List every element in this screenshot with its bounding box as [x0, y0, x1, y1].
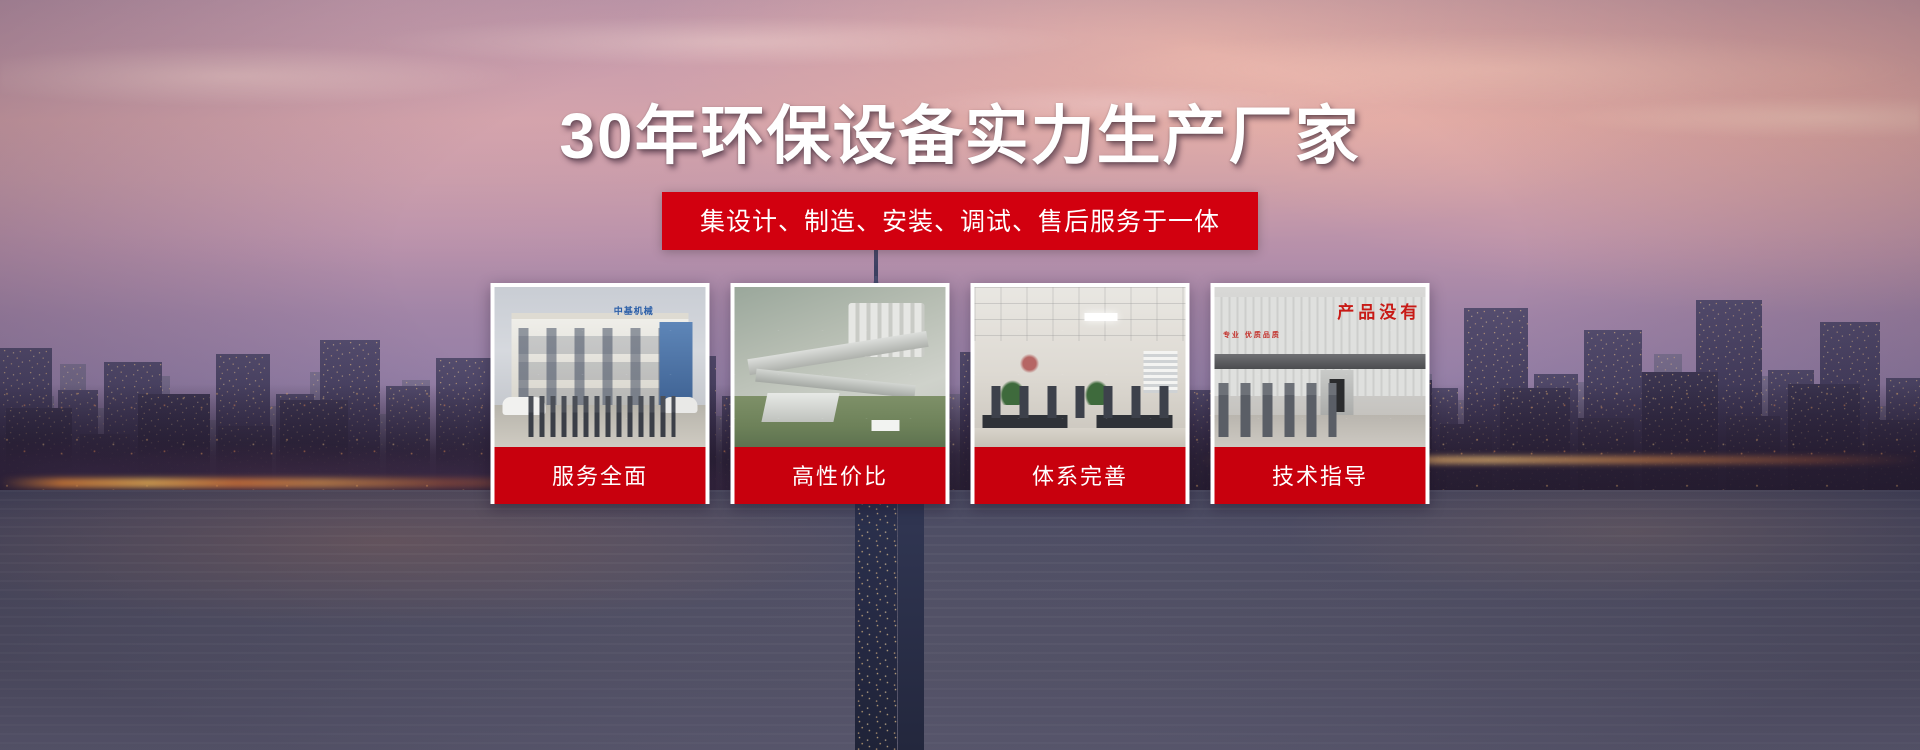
- banner-content: 30年环保设备实力生产厂家 集设计、制造、安装、调试、售后服务于一体 中基机械: [0, 0, 1920, 750]
- factory-wall-slogan: 产品没有: [1303, 297, 1421, 326]
- building-sign-text: 中基机械: [587, 300, 680, 321]
- feature-card[interactable]: 体系完善: [971, 283, 1190, 504]
- card-caption: 技术指导: [1215, 447, 1426, 504]
- feature-card-list: 中基机械 服务全面: [491, 283, 1430, 504]
- card-photo-office: [975, 287, 1186, 447]
- feature-card[interactable]: 高性价比: [731, 283, 950, 504]
- card-caption: 高性价比: [735, 447, 946, 504]
- card-caption: 体系完善: [975, 447, 1186, 504]
- feature-card[interactable]: 产品没有 专业 优质品质 技术指导: [1211, 283, 1430, 504]
- feature-card[interactable]: 中基机械 服务全面: [491, 283, 710, 504]
- card-photo-workshop: 产品没有 专业 优质品质: [1215, 287, 1426, 447]
- card-photo-headquarters: 中基机械: [495, 287, 706, 447]
- hero-banner: 30年环保设备实力生产厂家 集设计、制造、安装、调试、售后服务于一体 中基机械: [0, 0, 1920, 750]
- factory-wall-subslogan: 专业 优质品质: [1223, 322, 1312, 348]
- card-photo-plant: [735, 287, 946, 447]
- subtitle-badge: 集设计、制造、安装、调试、售后服务于一体: [662, 192, 1258, 250]
- page-title: 30年环保设备实力生产厂家: [0, 104, 1920, 168]
- card-caption: 服务全面: [495, 447, 706, 504]
